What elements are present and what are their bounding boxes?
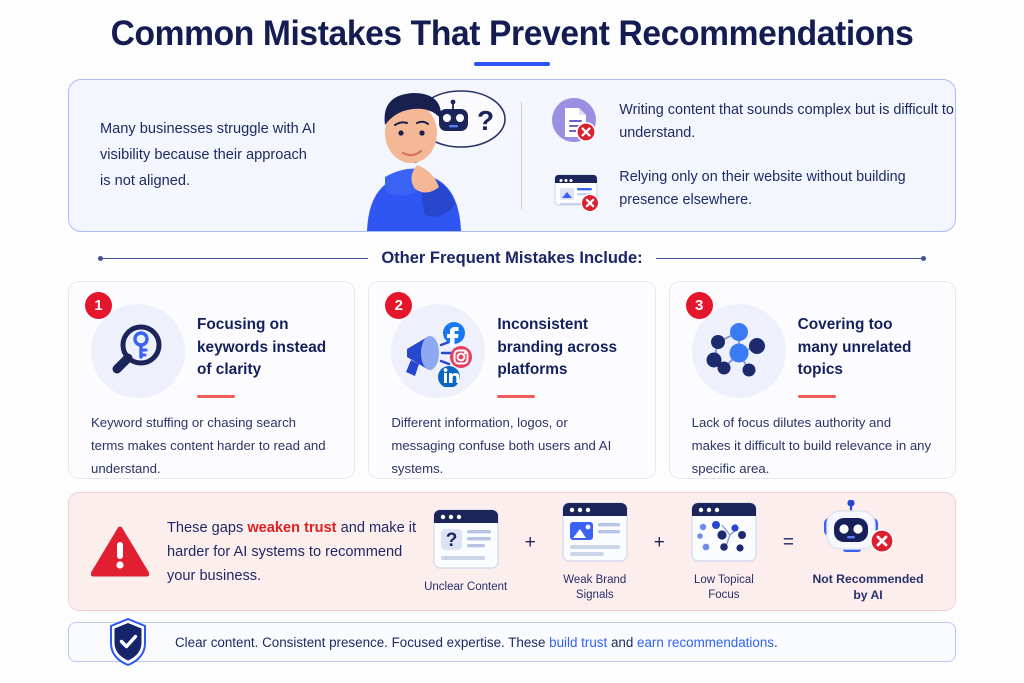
list-item: Writing content that sounds complex but … — [550, 96, 955, 148]
unclear-content-window-icon: ? — [420, 508, 512, 572]
section-divider: Other Frequent Mistakes Include: — [68, 249, 956, 268]
equation-item-unclear-content: ? Unclear Content — [420, 508, 512, 595]
card-number-badge: 3 — [686, 292, 713, 319]
mistake-card-3: 3 — [669, 281, 956, 479]
svg-text:?: ? — [445, 530, 457, 551]
card-title: Focusing on keywords instead of clarity — [197, 314, 332, 382]
section-heading: Other Frequent Mistakes Include: — [381, 249, 642, 268]
equation-caption: Unclear Content — [420, 580, 512, 595]
card-body: Different information, logos, or messagi… — [391, 412, 632, 480]
footer-text: Clear content. Consistent presence. Focu… — [69, 635, 778, 650]
equation-result-caption: Not Recommended by AI — [807, 572, 929, 604]
thinking-person-illustration: ? — [329, 81, 509, 231]
warning-left: These gaps weaken trust and make it hard… — [91, 516, 420, 588]
intro-text: Many businesses struggle with AI visibil… — [69, 117, 319, 194]
magnifier-key-icon — [91, 304, 185, 398]
intro-panel: Many businesses struggle with AI visibil… — [68, 79, 956, 232]
intro-mistake-list: Writing content that sounds complex but … — [522, 80, 955, 231]
equation-item-low-topical-focus: Low Topical Focus — [678, 501, 770, 603]
footer-bar: Clear content. Consistent presence. Focu… — [68, 622, 956, 662]
equation-operator: + — [525, 532, 536, 572]
card-body: Keyword stuffing or chasing search terms… — [91, 412, 332, 480]
low-topical-focus-window-icon — [678, 501, 770, 565]
footer-text-3: . — [774, 635, 778, 650]
card-rule — [798, 395, 836, 397]
page-title: Common Mistakes That Prevent Recommendat… — [86, 14, 938, 53]
equation-operator: + — [654, 532, 665, 572]
warning-text-highlight: weaken trust — [247, 520, 336, 536]
card-rule — [497, 395, 535, 397]
list-item-label: Relying only on their website without bu… — [619, 166, 955, 212]
browser-error-icon — [550, 163, 602, 215]
weak-brand-window-icon — [549, 501, 641, 565]
equation-row: ? Unclear Content + — [420, 500, 933, 604]
infographic-page: Common Mistakes That Prevent Recommendat… — [0, 0, 1024, 683]
warning-text: These gaps weaken trust and make it hard… — [167, 516, 420, 588]
megaphone-social-icons — [391, 304, 485, 398]
mistake-card-2: 2 — [368, 281, 655, 479]
divider-line-right — [656, 258, 926, 259]
document-error-icon — [550, 96, 602, 148]
network-nodes-icon — [692, 304, 786, 398]
title-block: Common Mistakes That Prevent Recommendat… — [68, 0, 956, 66]
card-title: Covering too many unrelated topics — [798, 314, 933, 382]
title-underline — [474, 62, 550, 66]
mistake-cards: 1 Focusing on keywords instead of clarit… — [68, 281, 956, 479]
card-title: Inconsistent branding across platforms — [497, 314, 632, 382]
equation-caption: Weak Brand Signals — [549, 573, 641, 603]
list-item-label: Writing content that sounds complex but … — [619, 99, 955, 145]
shield-check-icon — [107, 616, 149, 668]
equation-item-weak-brand: Weak Brand Signals — [549, 501, 641, 603]
card-number-badge: 1 — [85, 292, 112, 319]
mistake-card-1: 1 Focusing on keywords instead of clarit… — [68, 281, 355, 479]
list-item: Relying only on their website without bu… — [550, 163, 955, 215]
svg-text:?: ? — [477, 105, 494, 136]
equation-operator: = — [783, 532, 794, 572]
intro-left: Many businesses struggle with AI visibil… — [69, 80, 521, 231]
card-rule — [197, 395, 235, 397]
card-body: Lack of focus dilutes authority and make… — [692, 412, 933, 480]
warning-text-before: These gaps — [167, 520, 247, 536]
footer-highlight-1: build trust — [549, 635, 607, 650]
warning-triangle-icon — [91, 526, 149, 578]
footer-text-2: and — [607, 635, 637, 650]
equation-caption: Low Topical Focus — [678, 573, 770, 603]
robot-rejected-icon — [807, 500, 929, 564]
warning-panel: These gaps weaken trust and make it hard… — [68, 492, 956, 611]
footer-highlight-2: earn recommendations — [637, 635, 774, 650]
equation-result: Not Recommended by AI — [807, 500, 929, 604]
divider-line-left — [98, 258, 368, 259]
footer-text-1: Clear content. Consistent presence. Focu… — [175, 635, 549, 650]
